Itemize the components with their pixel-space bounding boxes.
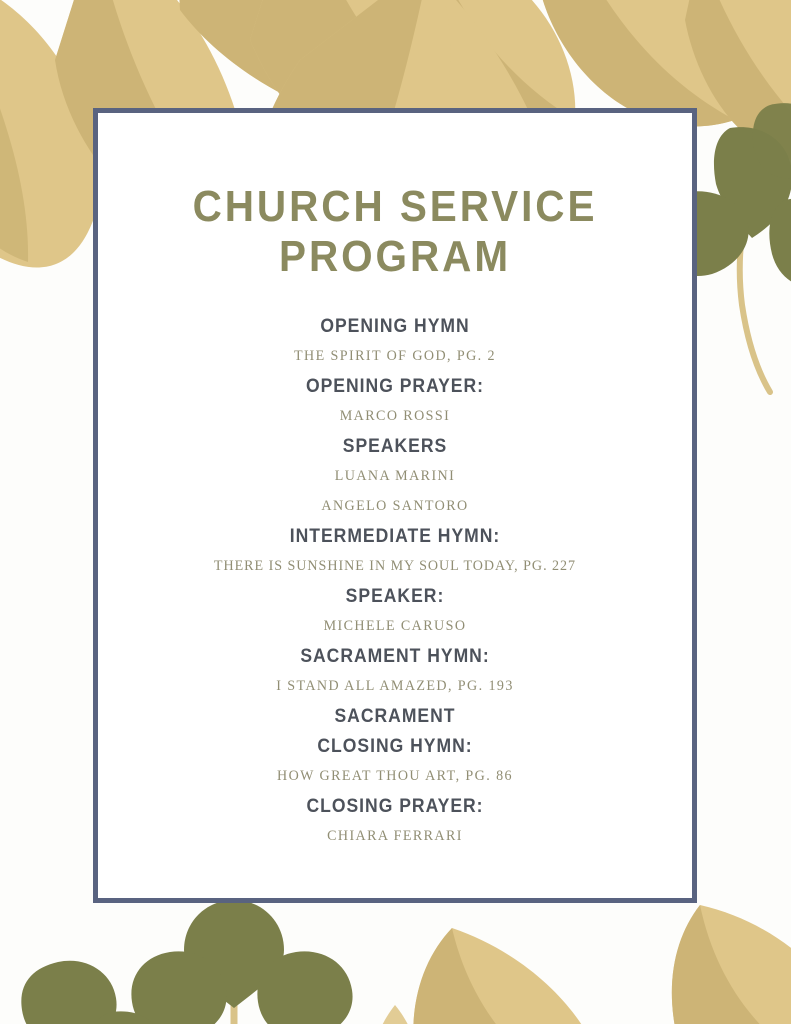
program-list: OPENING HYMNTHE SPIRIT OF GOD, PG. 2OPEN… bbox=[98, 311, 692, 851]
page-title-line-1: CHURCH SERVICE bbox=[122, 182, 668, 232]
program-heading: SACRAMENT bbox=[128, 701, 663, 731]
program-heading: INTERMEDIATE HYMN: bbox=[128, 521, 663, 551]
program-subentry: LUANA MARINI bbox=[107, 461, 683, 491]
olive-leaf-icon bbox=[769, 198, 791, 287]
program-page: CHURCH SERVICE PROGRAM OPENING HYMNTHE S… bbox=[0, 0, 791, 1024]
olive-leaf-icon bbox=[257, 951, 352, 1024]
program-heading: SACRAMENT HYMN: bbox=[128, 641, 663, 671]
program-heading: CLOSING HYMN: bbox=[128, 731, 663, 761]
program-heading: CLOSING PRAYER: bbox=[128, 791, 663, 821]
gold-leaf-icon bbox=[413, 928, 607, 1024]
olive-leaf-icon bbox=[184, 900, 284, 1008]
gold-leaf-icon bbox=[0, 0, 97, 268]
gold-leaf-icon bbox=[369, 1005, 423, 1024]
olive-leaf-icon bbox=[131, 951, 226, 1024]
program-subentry: MICHELE CARUSO bbox=[107, 611, 683, 641]
program-subentry: THE SPIRIT OF GOD, PG. 2 bbox=[107, 341, 683, 371]
program-subentry: ANGELO SANTORO bbox=[107, 491, 683, 521]
program-subentry: CHIARA FERRARI bbox=[107, 821, 683, 851]
program-heading: SPEAKER: bbox=[128, 581, 663, 611]
program-subentry: THERE IS SUNSHINE IN MY SOUL TODAY, PG. … bbox=[107, 551, 683, 581]
program-subentry: I STAND ALL AMAZED, PG. 193 bbox=[107, 671, 683, 701]
program-heading: SPEAKERS bbox=[128, 431, 663, 461]
olive-leaf-icon bbox=[86, 1011, 164, 1024]
gold-leaf-icon bbox=[672, 905, 791, 1024]
gold-leaf-icon bbox=[0, 29, 105, 218]
program-subentry: HOW GREAT THOU ART, PG. 86 bbox=[107, 761, 683, 791]
gold-leaf-icon bbox=[685, 0, 791, 163]
olive-leaf-pair-bottom-left bbox=[21, 961, 164, 1024]
olive-leaf-icon bbox=[21, 961, 116, 1024]
olive-leaf-icon bbox=[714, 127, 791, 238]
program-heading: OPENING HYMN bbox=[128, 311, 663, 341]
program-content: CHURCH SERVICE PROGRAM OPENING HYMNTHE S… bbox=[98, 113, 692, 898]
program-heading: OPENING PRAYER: bbox=[128, 371, 663, 401]
page-title-line-2: PROGRAM bbox=[122, 232, 668, 282]
program-subentry: MARCO ROSSI bbox=[107, 401, 683, 431]
olive-clover-sprig-bottom bbox=[131, 900, 352, 1024]
page-title: CHURCH SERVICE PROGRAM bbox=[122, 182, 668, 282]
olive-leaf-icon bbox=[753, 103, 791, 178]
